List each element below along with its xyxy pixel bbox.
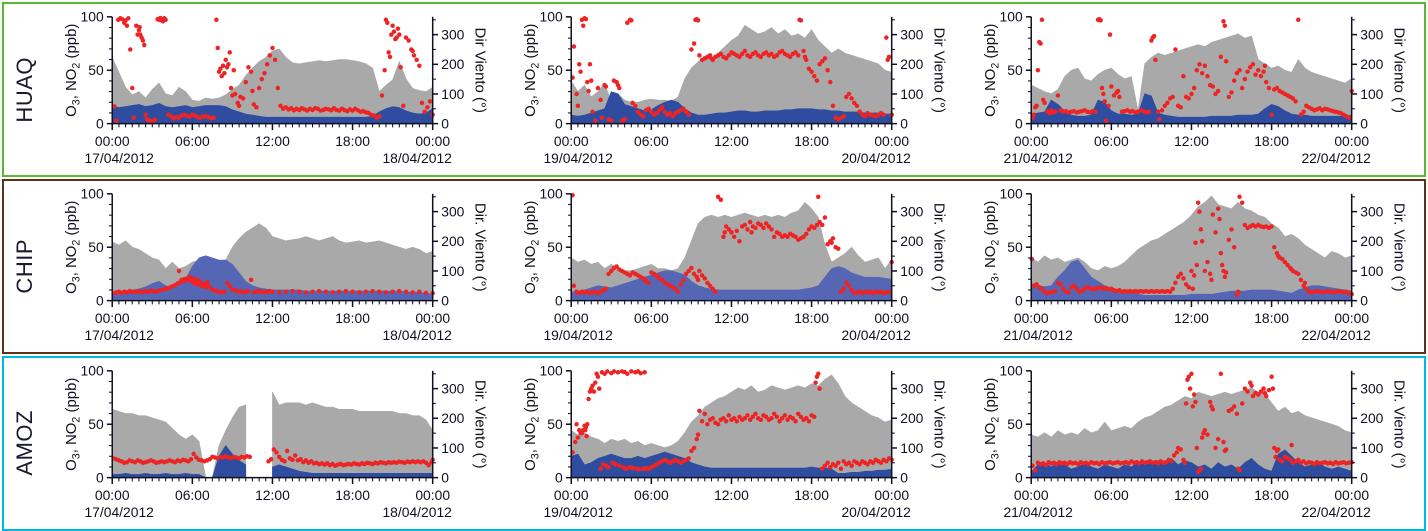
start-date-label: 19/04/2012 [544, 150, 614, 166]
right-tick-label: 0 [901, 469, 909, 485]
right-tick-label: 200 [901, 233, 924, 249]
svg-text:Dir Viento (°): Dir Viento (°) [1390, 28, 1407, 113]
start-date-label: 21/04/2012 [1003, 504, 1073, 520]
end-date-label: 18/04/2012 [382, 327, 452, 343]
panel-amoz-2: 050100010020030000:0006:0012:0018:0000:0… [505, 358, 964, 529]
right-axis-title: Dir. Viento (°) [471, 380, 488, 469]
x-tick-label: 06:00 [1094, 487, 1129, 503]
x-tick-label: 00:00 [875, 487, 910, 503]
right-tick-label: 100 [1360, 440, 1383, 456]
start-date-label: 17/04/2012 [84, 504, 154, 520]
left-axis-title: O3, NO2 (ppb) [522, 377, 542, 470]
panel-huaq-2: 050100010020030000:0006:0012:0018:0000:0… [505, 4, 964, 175]
left-tick-label: 50 [88, 239, 104, 255]
right-axis-title: Dir. Viento (°) [1390, 203, 1407, 292]
right-axis-title: Dir. Viento (°) [931, 203, 948, 292]
x-tick-label: 12:00 [1174, 133, 1209, 149]
svg-text:Dir. Viento (°): Dir. Viento (°) [471, 203, 488, 292]
right-tick-label: 200 [901, 56, 924, 72]
left-tick-label: 100 [999, 362, 1022, 378]
x-tick-label: 00:00 [95, 310, 130, 326]
left-tick-label: 50 [88, 416, 104, 432]
right-tick-label: 200 [441, 233, 464, 249]
svg-text:Dir. Viento (°): Dir. Viento (°) [471, 380, 488, 469]
svg-text:O3, NO2 (ppb): O3, NO2 (ppb) [63, 377, 83, 470]
x-tick-label: 06:00 [634, 133, 669, 149]
left-axis-title: O3, NO2 (ppb) [982, 200, 1002, 293]
right-tick-label: 300 [901, 203, 924, 219]
end-date-label: 22/04/2012 [1301, 150, 1371, 166]
right-tick-label: 200 [1360, 410, 1383, 426]
panel-group: 050100010020030000:0006:0012:0018:0000:0… [46, 181, 1424, 352]
svg-text:Dir. Viento (°): Dir. Viento (°) [1390, 380, 1407, 469]
x-tick-label: 00:00 [1334, 487, 1369, 503]
right-axis-title: Dir Viento (°) [931, 28, 948, 113]
left-axis-title: O3, NO2 (ppb) [522, 200, 542, 293]
station-label-amoz: AMOZ [4, 358, 46, 529]
right-tick-label: 100 [901, 440, 924, 456]
left-tick-label: 100 [540, 9, 563, 25]
right-tick-label: 300 [441, 380, 464, 396]
x-tick-label: 12:00 [255, 487, 290, 503]
end-date-label: 22/04/2012 [1301, 504, 1371, 520]
right-tick-label: 300 [441, 26, 464, 42]
x-tick-label: 06:00 [175, 310, 210, 326]
right-tick-label: 300 [1360, 203, 1383, 219]
x-tick-label: 00:00 [1014, 487, 1049, 503]
station-label-text: AMOZ [12, 410, 38, 476]
x-tick-label: 06:00 [175, 133, 210, 149]
x-tick-label: 18:00 [1254, 487, 1289, 503]
left-tick-label: 50 [1007, 239, 1023, 255]
x-tick-label: 06:00 [1094, 310, 1129, 326]
svg-text:O3, NO2 (ppb): O3, NO2 (ppb) [982, 24, 1002, 117]
left-tick-label: 0 [555, 115, 563, 131]
x-tick-label: 00:00 [415, 487, 450, 503]
svg-text:Dir. Viento (°): Dir. Viento (°) [931, 380, 948, 469]
right-tick-label: 100 [441, 263, 464, 279]
left-tick-label: 50 [548, 62, 564, 78]
panel-amoz-1: 050100010020030000:0006:0012:0018:0000:0… [46, 358, 505, 529]
left-tick-label: 0 [1015, 469, 1023, 485]
x-tick-label: 00:00 [875, 133, 910, 149]
panel-chip-2: 050100010020030000:0006:0012:0018:0000:0… [505, 181, 964, 352]
end-date-label: 20/04/2012 [842, 504, 912, 520]
x-tick-label: 06:00 [634, 310, 669, 326]
left-tick-label: 50 [88, 62, 104, 78]
svg-text:Dir Viento (°): Dir Viento (°) [471, 28, 488, 113]
start-date-label: 19/04/2012 [544, 504, 614, 520]
right-tick-label: 200 [1360, 233, 1383, 249]
svg-text:O3, NO2 (ppb): O3, NO2 (ppb) [63, 200, 83, 293]
right-tick-label: 300 [901, 380, 924, 396]
left-axis-title: O3, NO2 (ppb) [522, 24, 542, 117]
x-tick-label: 18:00 [795, 487, 830, 503]
right-axis-title: Dir. Viento (°) [1390, 380, 1407, 469]
left-tick-label: 50 [548, 416, 564, 432]
right-tick-label: 300 [1360, 380, 1383, 396]
left-tick-label: 50 [1007, 62, 1023, 78]
x-tick-label: 00:00 [1014, 133, 1049, 149]
x-tick-label: 00:00 [95, 133, 130, 149]
x-tick-label: 18:00 [1254, 133, 1289, 149]
end-date-label: 18/04/2012 [382, 150, 452, 166]
station-label-chip: CHIP [4, 181, 46, 352]
x-tick-label: 12:00 [714, 133, 749, 149]
right-tick-label: 0 [441, 292, 449, 308]
start-date-label: 21/04/2012 [1003, 327, 1073, 343]
x-tick-label: 18:00 [795, 310, 830, 326]
right-axis-title: Dir. Viento (°) [931, 380, 948, 469]
left-tick-label: 0 [1015, 115, 1023, 131]
right-axis-title: Dir Viento (°) [1390, 28, 1407, 113]
right-tick-label: 0 [441, 115, 449, 131]
svg-text:O3, NO2 (ppb): O3, NO2 (ppb) [522, 200, 542, 293]
x-tick-label: 18:00 [795, 133, 830, 149]
x-tick-label: 18:00 [1254, 310, 1289, 326]
left-tick-label: 100 [540, 362, 563, 378]
right-tick-label: 300 [901, 26, 924, 42]
left-tick-label: 50 [548, 239, 564, 255]
right-tick-label: 100 [1360, 263, 1383, 279]
x-tick-label: 00:00 [415, 133, 450, 149]
svg-text:Dir. Viento (°): Dir. Viento (°) [1390, 203, 1407, 292]
left-axis-title: O3, NO2 (ppb) [982, 377, 1002, 470]
left-tick-label: 100 [999, 186, 1022, 202]
x-tick-label: 00:00 [415, 310, 450, 326]
right-tick-label: 200 [901, 410, 924, 426]
panel-huaq-3: 050100010020030000:0006:0012:0018:0000:0… [965, 4, 1424, 175]
x-tick-label: 12:00 [1174, 310, 1209, 326]
station-label-text: CHIP [12, 239, 38, 294]
start-date-label: 21/04/2012 [1003, 150, 1073, 166]
svg-text:O3, NO2 (ppb): O3, NO2 (ppb) [982, 200, 1002, 293]
left-axis-title: O3, NO2 (ppb) [63, 24, 83, 117]
right-tick-label: 0 [441, 469, 449, 485]
x-tick-label: 00:00 [554, 310, 589, 326]
end-date-label: 18/04/2012 [382, 504, 452, 520]
x-tick-label: 12:00 [714, 487, 749, 503]
x-tick-label: 00:00 [554, 487, 589, 503]
panel-amoz-3: 050100010020030000:0006:0012:0018:0000:0… [965, 358, 1424, 529]
svg-text:Dir Viento (°): Dir Viento (°) [931, 28, 948, 113]
right-tick-label: 100 [441, 86, 464, 102]
x-tick-label: 12:00 [714, 310, 749, 326]
right-tick-label: 0 [1360, 469, 1368, 485]
start-date-label: 17/04/2012 [84, 327, 154, 343]
left-tick-label: 100 [81, 9, 104, 25]
panel-chip-1: 050100010020030000:0006:0012:0018:0000:0… [46, 181, 505, 352]
multi-panel-figure: HUAQ050100010020030000:0006:0012:0018:00… [0, 0, 1428, 487]
x-tick-label: 00:00 [1014, 310, 1049, 326]
end-date-label: 22/04/2012 [1301, 327, 1371, 343]
x-tick-label: 06:00 [634, 487, 669, 503]
x-tick-label: 18:00 [335, 487, 370, 503]
right-tick-label: 200 [441, 410, 464, 426]
station-row-huaq: HUAQ050100010020030000:0006:0012:0018:00… [2, 2, 1426, 177]
svg-text:O3, NO2 (ppb): O3, NO2 (ppb) [522, 24, 542, 117]
x-tick-label: 12:00 [1174, 487, 1209, 503]
x-tick-label: 18:00 [335, 133, 370, 149]
left-tick-label: 0 [555, 469, 563, 485]
panel-group: 050100010020030000:0006:0012:0018:0000:0… [46, 358, 1424, 529]
end-date-label: 20/04/2012 [842, 150, 912, 166]
x-tick-label: 00:00 [95, 487, 130, 503]
panel-group: 050100010020030000:0006:0012:0018:0000:0… [46, 4, 1424, 175]
x-tick-label: 06:00 [175, 487, 210, 503]
left-tick-label: 100 [999, 9, 1022, 25]
right-tick-label: 0 [901, 292, 909, 308]
right-tick-label: 200 [1360, 56, 1383, 72]
station-label-huaq: HUAQ [4, 4, 46, 175]
x-tick-label: 00:00 [554, 133, 589, 149]
station-row-chip: CHIP050100010020030000:0006:0012:0018:00… [2, 179, 1426, 354]
right-tick-label: 100 [1360, 86, 1383, 102]
right-axis-title: Dir Viento (°) [471, 28, 488, 113]
x-tick-label: 12:00 [255, 133, 290, 149]
left-tick-label: 0 [96, 292, 104, 308]
right-axis-title: Dir. Viento (°) [471, 203, 488, 292]
svg-text:O3, NO2 (ppb): O3, NO2 (ppb) [63, 24, 83, 117]
x-tick-label: 00:00 [875, 310, 910, 326]
x-tick-label: 12:00 [255, 310, 290, 326]
x-tick-label: 00:00 [1334, 133, 1369, 149]
svg-text:O3, NO2 (ppb): O3, NO2 (ppb) [982, 377, 1002, 470]
station-row-amoz: AMOZ050100010020030000:0006:0012:0018:00… [2, 356, 1426, 531]
start-date-label: 19/04/2012 [544, 327, 614, 343]
right-tick-label: 0 [1360, 292, 1368, 308]
right-tick-label: 100 [901, 86, 924, 102]
start-date-label: 17/04/2012 [84, 150, 154, 166]
left-tick-label: 0 [1015, 292, 1023, 308]
left-tick-label: 0 [96, 469, 104, 485]
x-tick-label: 00:00 [1334, 310, 1369, 326]
left-axis-title: O3, NO2 (ppb) [63, 200, 83, 293]
right-tick-label: 100 [441, 440, 464, 456]
right-tick-label: 300 [441, 203, 464, 219]
panel-huaq-1: 050100010020030000:0006:0012:0018:0000:0… [46, 4, 505, 175]
panel-chip-3: 050100010020030000:0006:0012:0018:0000:0… [965, 181, 1424, 352]
left-axis-title: O3, NO2 (ppb) [982, 24, 1002, 117]
left-axis-title: O3, NO2 (ppb) [63, 377, 83, 470]
left-tick-label: 100 [540, 186, 563, 202]
svg-text:O3, NO2 (ppb): O3, NO2 (ppb) [522, 377, 542, 470]
left-tick-label: 0 [96, 115, 104, 131]
left-tick-label: 0 [555, 292, 563, 308]
x-tick-label: 18:00 [335, 310, 370, 326]
end-date-label: 20/04/2012 [842, 327, 912, 343]
right-tick-label: 100 [901, 263, 924, 279]
right-tick-label: 0 [1360, 115, 1368, 131]
right-tick-label: 0 [901, 115, 909, 131]
right-tick-label: 300 [1360, 26, 1383, 42]
left-tick-label: 100 [81, 186, 104, 202]
x-tick-label: 06:00 [1094, 133, 1129, 149]
left-tick-label: 50 [1007, 416, 1023, 432]
right-tick-label: 200 [441, 56, 464, 72]
svg-text:Dir. Viento (°): Dir. Viento (°) [931, 203, 948, 292]
left-tick-label: 100 [81, 362, 104, 378]
station-label-text: HUAQ [12, 57, 38, 123]
